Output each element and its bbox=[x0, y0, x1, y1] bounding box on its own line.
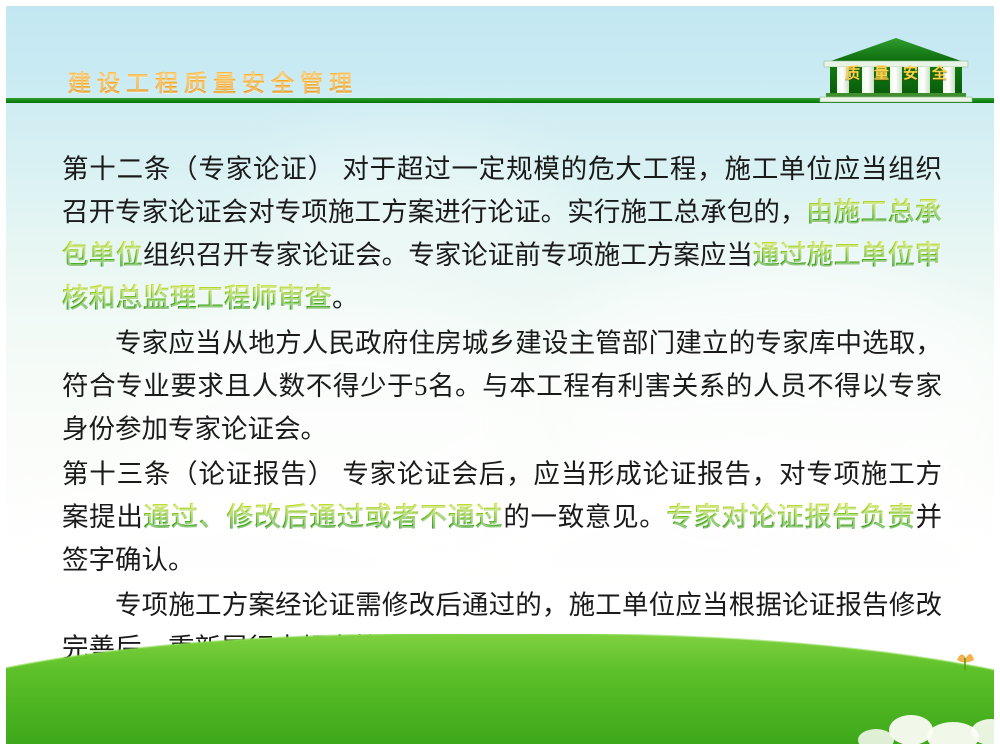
grass-decoration bbox=[6, 634, 994, 744]
text-run: 的一致意见。 bbox=[503, 502, 666, 532]
slide-header: 建设工程质量安全管理 bbox=[6, 6, 994, 104]
emphasis-run: 专家对论证报告负责 bbox=[666, 502, 915, 532]
logo-label: 质量安全 bbox=[812, 62, 980, 83]
text-run: 组织召开专家论证会。专家论证前专项施工方案应当 bbox=[143, 240, 753, 270]
text-run: 专家应当从地方人民政府住房城乡建设主管部门建立的专家库中选取，符合专业要求且人数… bbox=[62, 328, 942, 444]
page-title: 建设工程质量安全管理 bbox=[68, 64, 358, 98]
slide-background: 建设工程质量安全管理 bbox=[6, 6, 994, 744]
text-run: 。 bbox=[332, 283, 359, 313]
paragraph-article-13: 第十三条（论证报告） 专家论证会后，应当形成论证报告，对专项施工方案提出通过、修… bbox=[62, 453, 942, 582]
temple-columns-icon: 质量安全 bbox=[812, 36, 980, 104]
emphasis-run: 通过、修改后通过或者不通过 bbox=[144, 502, 504, 532]
paragraph-article-12-sub: 专家应当从地方人民政府住房城乡建设主管部门建立的专家库中选取，符合专业要求且人数… bbox=[62, 322, 942, 451]
paragraph-article-12: 第十二条（专家论证） 对于超过一定规模的危大工程，施工单位应当组织召开专家论证会… bbox=[62, 148, 942, 320]
grass-decoration-svg bbox=[6, 634, 994, 744]
slide: 建设工程质量安全管理 bbox=[0, 0, 1000, 750]
